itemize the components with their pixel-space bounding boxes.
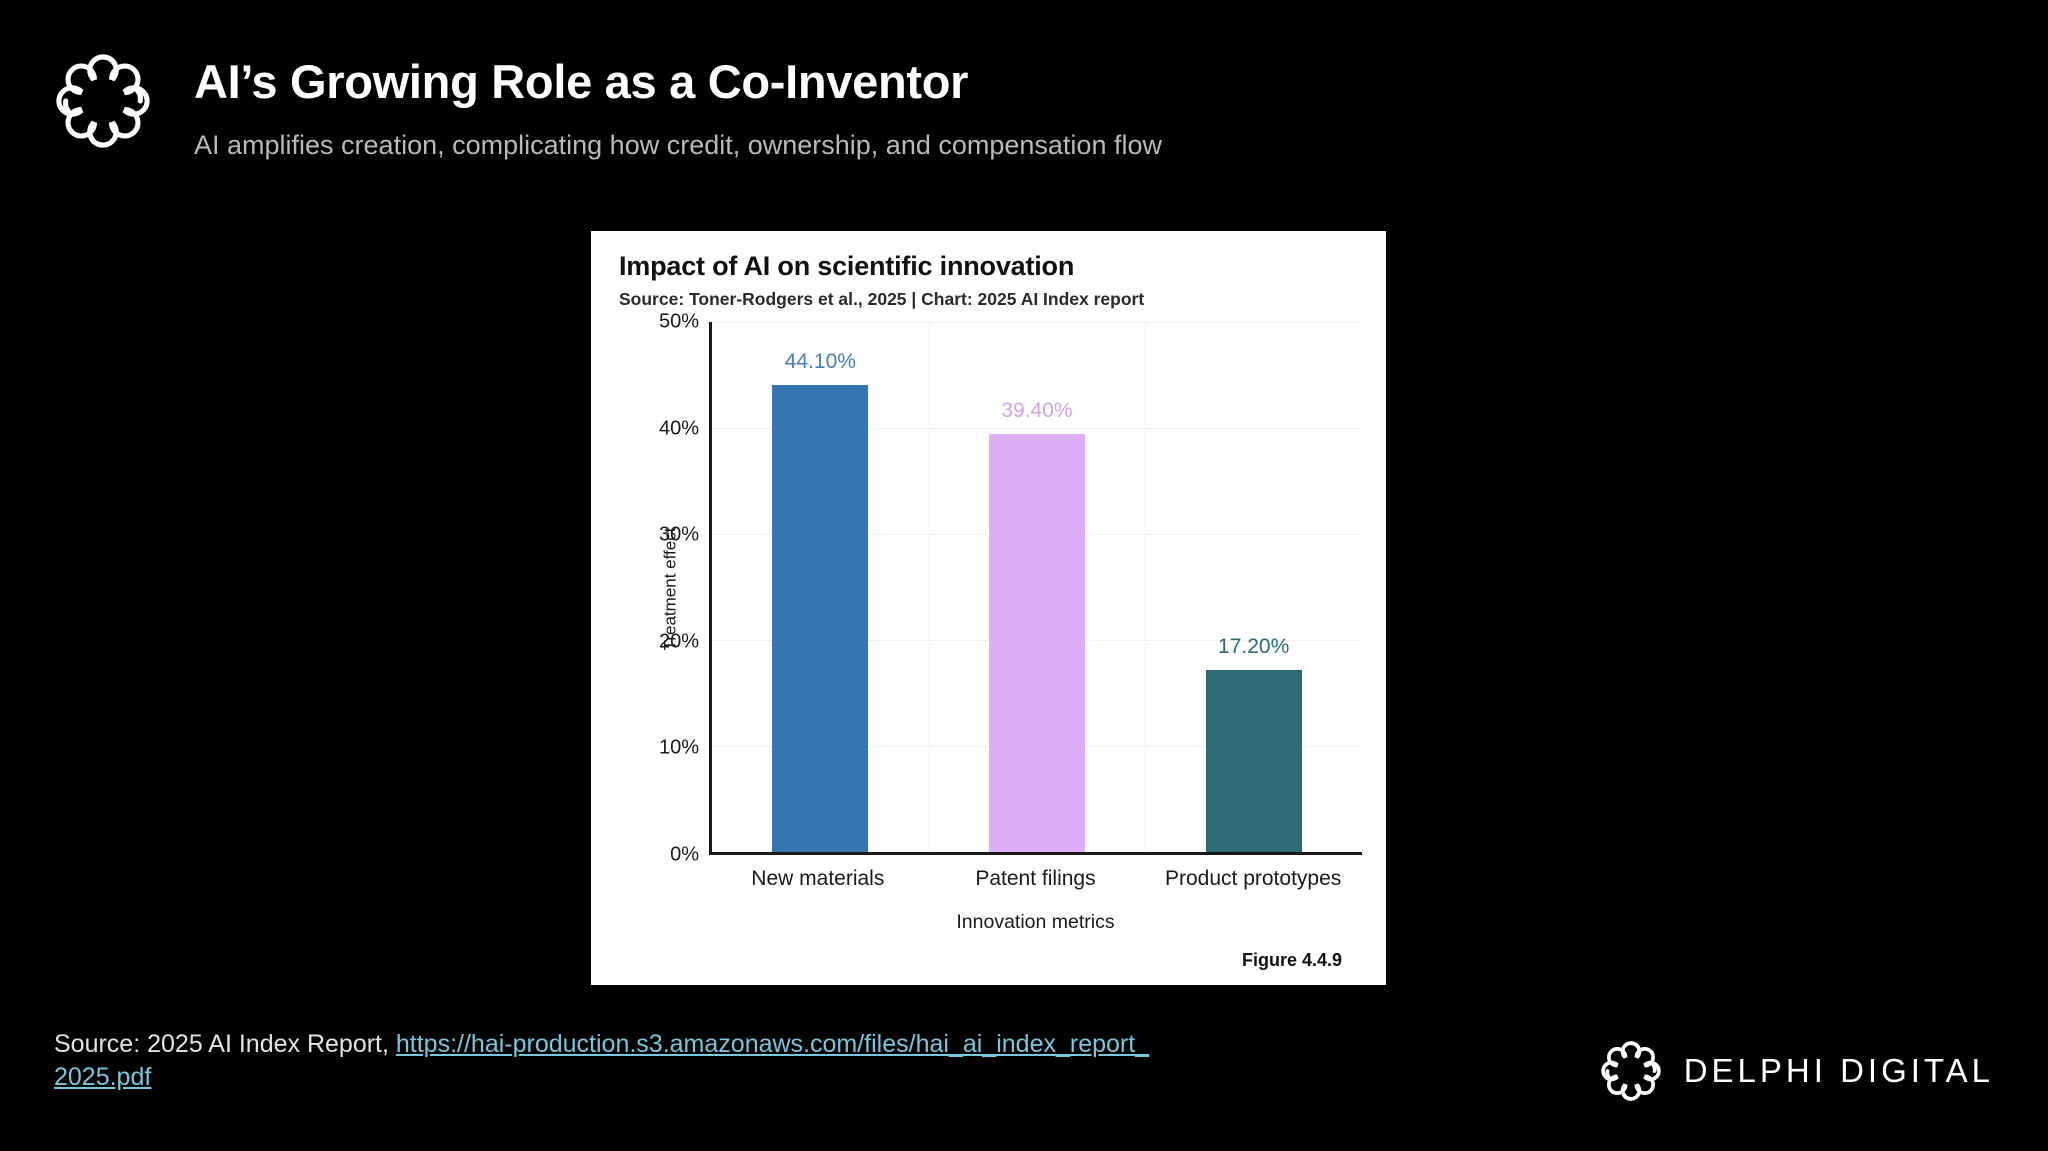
delphi-knot-logo-icon-footer — [1600, 1040, 1662, 1102]
footer-brand-name: DELPHI DIGITAL — [1684, 1052, 1994, 1090]
slide-header: AI’s Growing Role as a Co-Inventor AI am… — [54, 48, 1162, 163]
x-axis-tick: Patent filings — [927, 867, 1145, 891]
footer-brand: DELPHI DIGITAL — [1600, 1040, 1994, 1102]
header-text-block: AI’s Growing Role as a Co-Inventor AI am… — [194, 48, 1162, 163]
chart-card: Impact of AI on scientific innovation So… — [591, 231, 1386, 985]
figure-tag: Figure 4.4.9 — [607, 950, 1362, 971]
x-axis-label: Innovation metrics — [607, 911, 1362, 934]
page-subtitle: AI amplifies creation, complicating how … — [194, 128, 1162, 163]
y-axis-tick: 30% — [659, 524, 699, 547]
bar-series: 44.10%39.40%17.20% — [712, 322, 1362, 852]
y-axis-ticks: 50%40%30%20%10%0% — [635, 322, 709, 855]
bar-slot: 44.10% — [712, 322, 929, 852]
bar-value-label: 39.40% — [1001, 399, 1072, 423]
footer-source-prefix: Source: 2025 AI Index Report, — [54, 1030, 389, 1058]
y-axis-tick: 10% — [659, 737, 699, 760]
plot-wrapper: Treatment effect 50%40%30%20%10%0% 44.10… — [607, 322, 1362, 855]
bar-slot: 17.20% — [1145, 322, 1362, 852]
x-axis-ticks: New materialsPatent filingsProduct proto… — [607, 867, 1362, 891]
x-axis-tick: New materials — [709, 867, 927, 891]
chart-source-note: Source: Toner-Rodgers et al., 2025 | Cha… — [607, 289, 1362, 310]
y-axis-tick: 20% — [659, 630, 699, 653]
bar-slot: 39.40% — [929, 322, 1146, 852]
bar-value-label: 44.10% — [785, 350, 856, 374]
chart-title: Impact of AI on scientific innovation — [607, 251, 1362, 282]
bar[interactable]: 17.20% — [1206, 670, 1302, 852]
bar-value-label: 17.20% — [1218, 635, 1289, 659]
plot-area: 44.10%39.40%17.20% — [709, 322, 1362, 855]
bar[interactable]: 44.10% — [772, 385, 868, 852]
delphi-knot-logo-icon — [54, 52, 152, 150]
y-axis-tick: 40% — [659, 417, 699, 440]
bar[interactable]: 39.40% — [989, 434, 1085, 852]
y-axis-tick: 0% — [670, 844, 699, 867]
page-title: AI’s Growing Role as a Co-Inventor — [194, 56, 1162, 109]
y-axis-tick: 50% — [659, 311, 699, 334]
x-axis-tick: Product prototypes — [1144, 867, 1362, 891]
footer-source: Source: 2025 AI Index Report, https://ha… — [54, 1028, 1154, 1095]
